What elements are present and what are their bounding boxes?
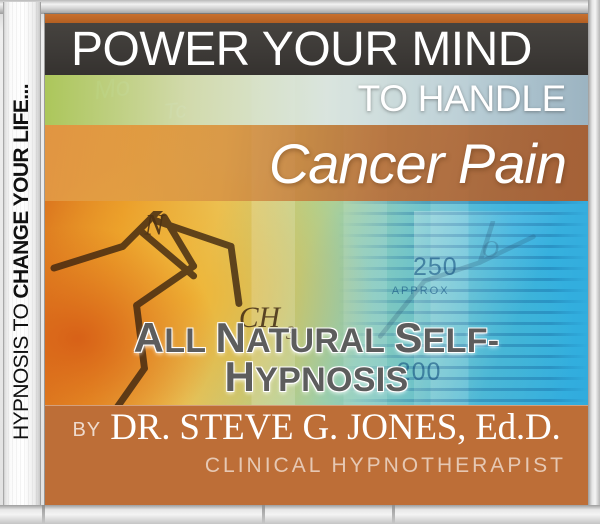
spine-text-part2: CHANGE YOUR LIFE... bbox=[10, 84, 33, 299]
cover-title: Cancer Pain bbox=[269, 133, 566, 195]
beaker-marking-approx: APPROX bbox=[392, 285, 450, 297]
author-credential: CLINICAL HYPNOTHERAPIST bbox=[205, 454, 566, 478]
top-orange-stripe bbox=[45, 14, 588, 23]
tagline-cap-s: S bbox=[394, 314, 422, 361]
byline-prefix: BY bbox=[72, 419, 101, 441]
case-right-edge bbox=[588, 0, 600, 524]
cover-byline: BY DR. STEVE G. JONES, Ed.D. bbox=[45, 408, 588, 450]
album-cover: N CH 3 O CH O Mo Tc 250 APPROX 200 bbox=[45, 14, 588, 506]
byline-band-highlight bbox=[45, 405, 588, 406]
tagline-cap-a: A bbox=[134, 314, 165, 361]
spine-text: HYPNOSIS TO CHANGE YOUR LIFE... bbox=[10, 84, 34, 440]
cover-headline: POWER YOUR MIND bbox=[71, 25, 532, 75]
svg-text:N: N bbox=[143, 211, 166, 242]
tagline-all-rest: LL bbox=[164, 322, 215, 360]
beaker-marking-250: 250 bbox=[413, 253, 458, 282]
cover-subhead: TO HANDLE bbox=[358, 77, 566, 121]
case-top-edge bbox=[0, 0, 600, 14]
tagline-natural-rest: ATURAL bbox=[246, 322, 394, 360]
svg-text:O: O bbox=[482, 237, 499, 263]
spine-text-part1: HYPNOSIS TO bbox=[10, 299, 33, 440]
case-spine: HYPNOSIS TO CHANGE YOUR LIFE... bbox=[3, 2, 41, 522]
tagline-hyp-rest: YPNOSIS bbox=[255, 361, 408, 399]
case-hinge-left bbox=[42, 505, 45, 524]
tagline-cap-h: H bbox=[225, 353, 256, 400]
cover-tagline: ALL NATURAL SELF-HYPNOSIS bbox=[45, 320, 588, 398]
author-name: DR. STEVE G. JONES, Ed.D. bbox=[110, 407, 560, 448]
cd-jewel-case: HYPNOSIS TO CHANGE YOUR LIFE... bbox=[0, 0, 600, 524]
case-hinge-right bbox=[392, 505, 395, 524]
case-hinge-center bbox=[262, 505, 265, 524]
case-bottom-edge bbox=[0, 505, 600, 524]
tagline-self-rest: ELF- bbox=[423, 322, 500, 360]
